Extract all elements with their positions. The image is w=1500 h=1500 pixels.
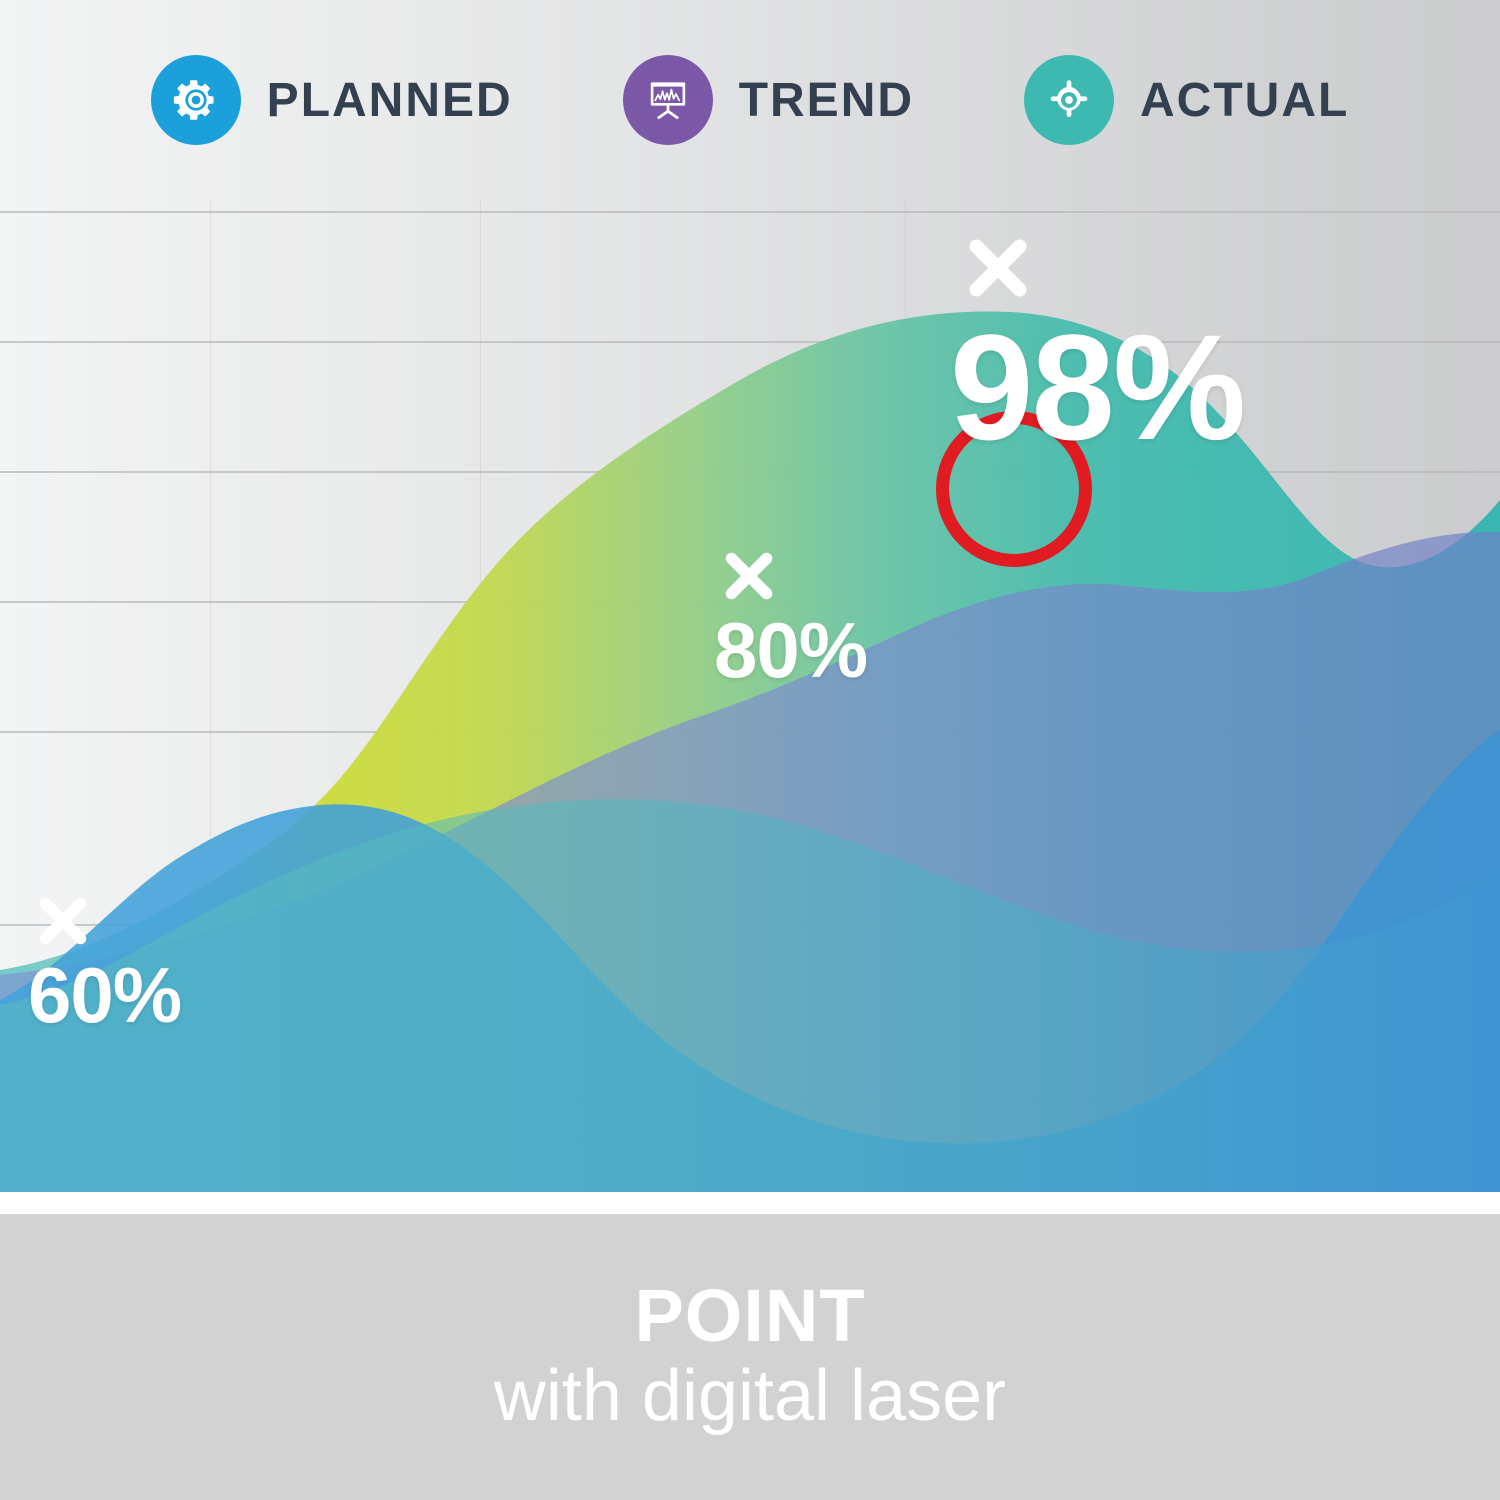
legend-label-trend: TREND [739, 73, 914, 128]
footer-caption: POINT with digital laser [0, 1214, 1500, 1500]
legend-label-planned: PLANNED [267, 73, 513, 128]
legend-item-trend[interactable]: TREND [623, 55, 914, 145]
legend-item-planned[interactable]: PLANNED [151, 55, 513, 145]
legend-item-actual[interactable]: ACTUAL [1024, 55, 1349, 145]
gear-icon [151, 55, 241, 145]
chart-legend: PLANNED TREND ACTUAL [0, 0, 1500, 200]
footer-subtitle: with digital laser [494, 1359, 1006, 1435]
infographic-poster: PLANNED TREND ACTUAL [0, 0, 1500, 1500]
chart-canvas [0, 200, 1500, 1192]
footer-title: POINT [634, 1279, 865, 1353]
highlight-ring-98 [936, 411, 1092, 567]
target-crosshair-icon [1024, 55, 1114, 145]
presentation-chart-icon [623, 55, 713, 145]
chart-footer-divider [0, 1192, 1500, 1214]
legend-label-actual: ACTUAL [1140, 73, 1349, 128]
area-chart: 98% 80% 60% [0, 200, 1500, 1192]
